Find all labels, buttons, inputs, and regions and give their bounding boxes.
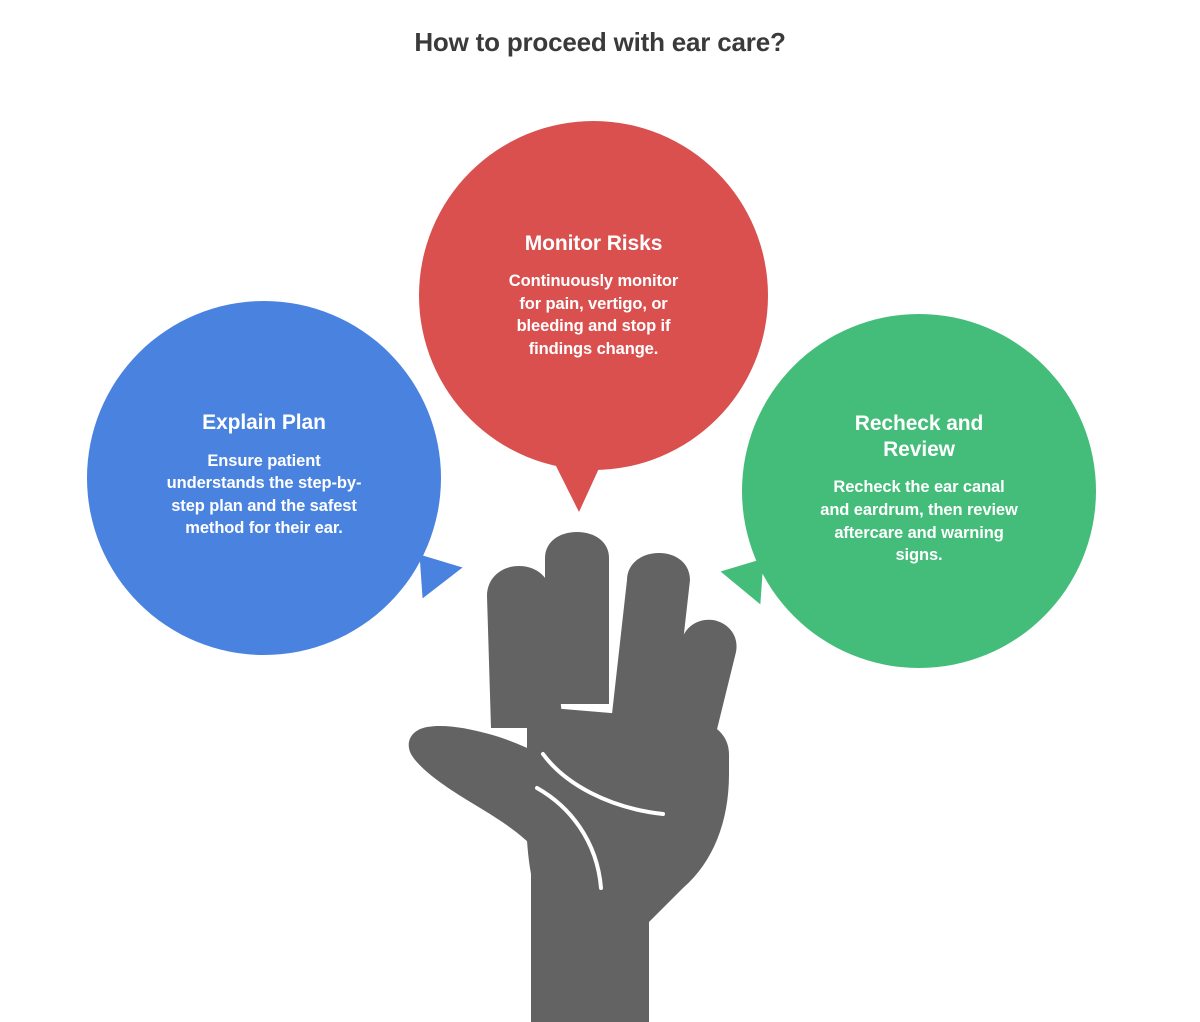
bubble-body-monitor-risks: Continuously monitor for pain, vertigo, … [499,270,689,360]
page-title: How to proceed with ear care? [0,27,1200,58]
speech-bubble-monitor-risks[interactable]: Monitor Risks Continuously monitor for p… [419,121,768,470]
bubble-tail-monitor-risks [555,464,601,512]
bubble-title-recheck-and-review: Recheck and Review [819,411,1019,462]
bubble-title-monitor-risks: Monitor Risks [525,231,663,257]
bubble-body-explain-plan: Ensure patient understands the step-by-s… [164,450,364,540]
infographic-canvas: How to proceed with ear care? Explain Pl… [0,0,1200,1022]
bubble-body-recheck-and-review: Recheck the ear canal and eardrum, then … [819,476,1019,566]
open-hand-icon [393,522,747,1022]
bubble-title-explain-plan: Explain Plan [202,410,326,436]
speech-bubble-recheck-and-review[interactable]: Recheck and Review Recheck the ear canal… [742,314,1096,668]
speech-bubble-explain-plan[interactable]: Explain Plan Ensure patient understands … [87,301,441,655]
